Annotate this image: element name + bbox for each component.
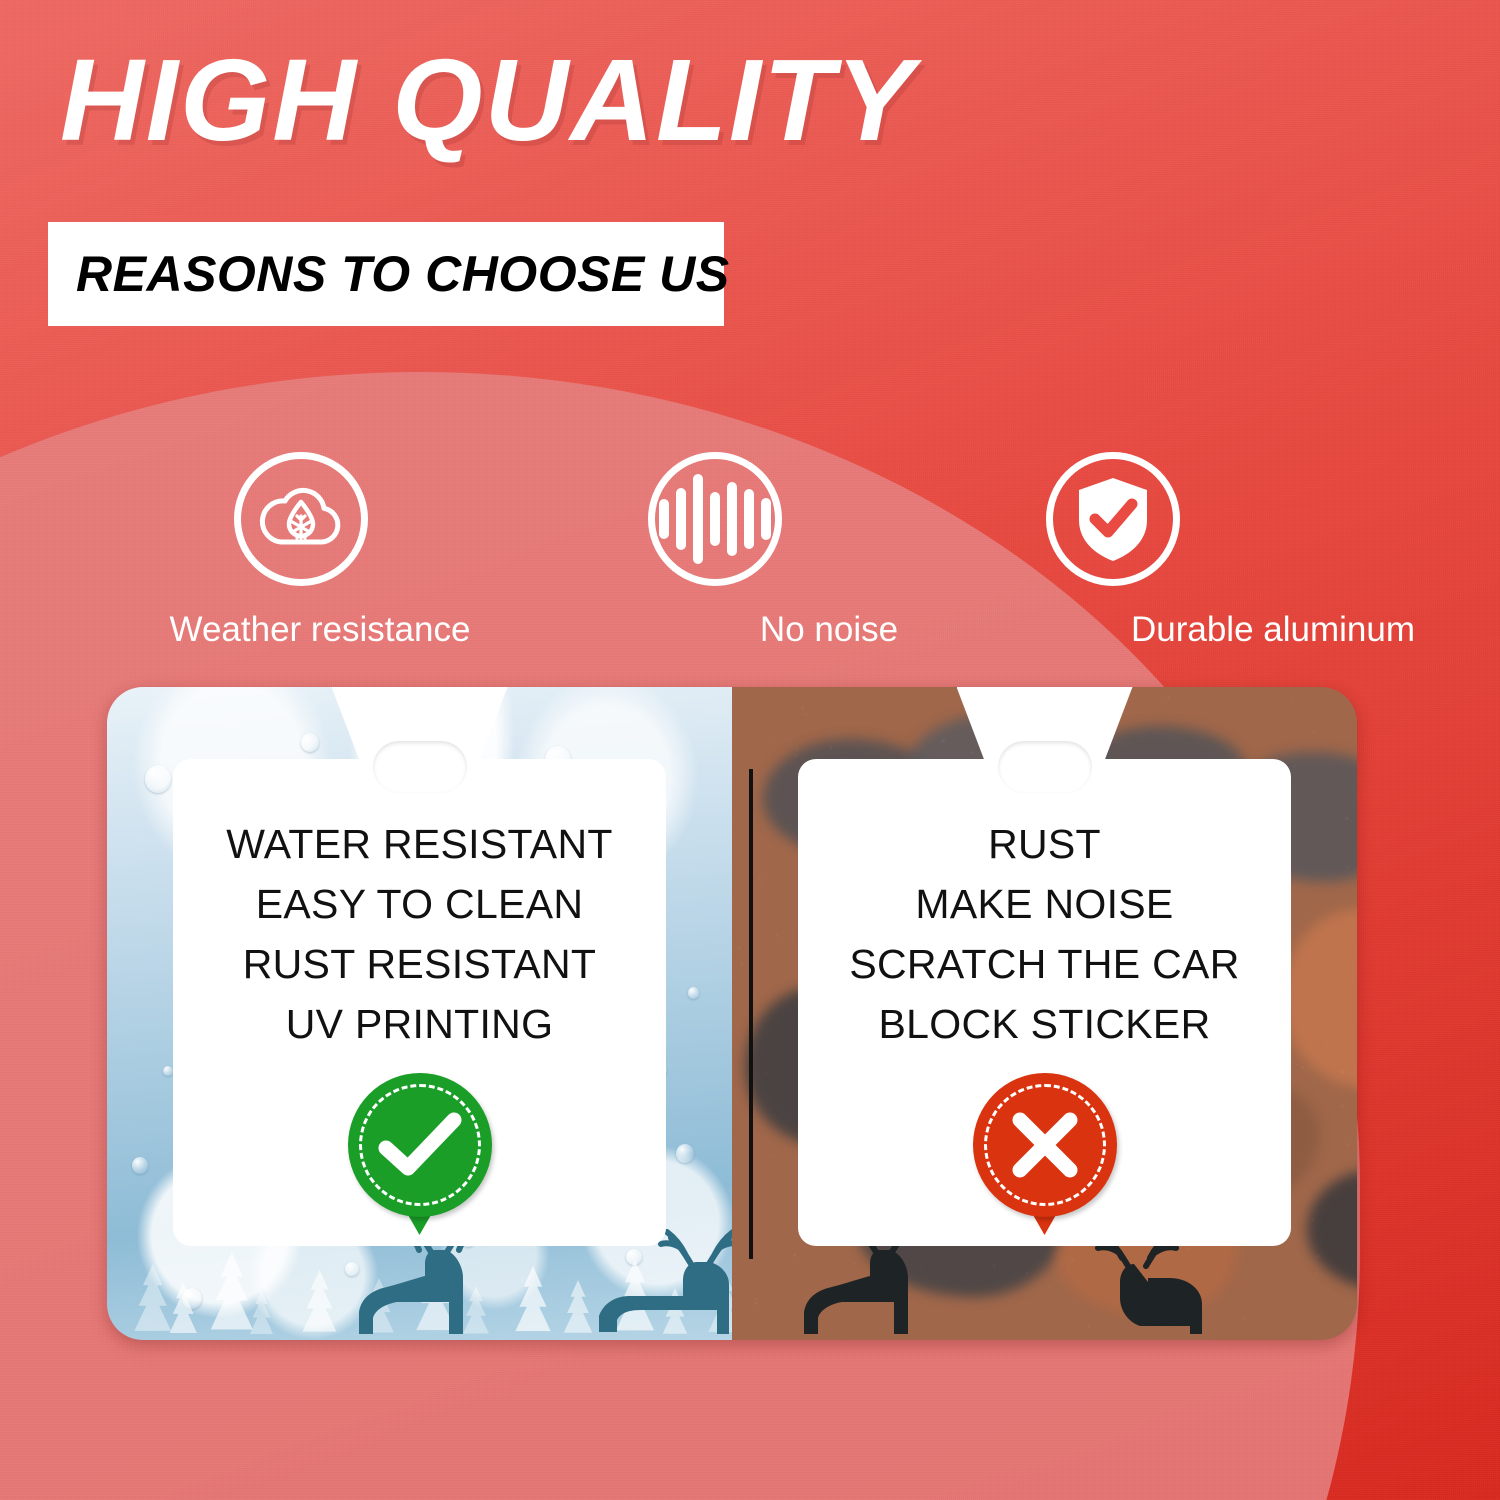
rust-speck [1114,737,1116,739]
rust-speck [1352,1266,1353,1267]
waveform-bar [693,474,703,564]
feature-label: No noise [648,610,1010,650]
waveform-bar [744,489,754,549]
rust-speck [1238,702,1241,705]
sound-waveform-icon [648,452,782,586]
rust-speck [791,739,793,741]
verdict-badge-cross [973,1073,1117,1217]
rust-speck [768,1080,770,1082]
rust-speck [756,1335,760,1339]
comparison-panel-good: WATER RESISTANT EASY TO CLEAN RUST RESIS… [107,687,732,1340]
rust-speck [754,1298,757,1301]
page-title: HIGH QUALITY [60,38,915,163]
rust-speck [1282,738,1285,741]
waveform-bar [676,488,686,550]
list-item: EASY TO CLEAN [107,875,732,935]
rust-speck [941,739,944,742]
rust-speck [879,718,881,720]
rust-speck [829,715,833,719]
water-droplet [132,1157,148,1174]
rust-speck [770,737,772,739]
list-item: SCRATCH THE CAR [732,935,1357,995]
subtitle-banner-text: REASONS TO CHOOSE US [48,245,730,303]
rust-speck [770,1155,772,1157]
shield-check-icon [1046,452,1180,586]
list-item: MAKE NOISE [732,875,1357,935]
pine-tree-silhouette [245,1290,279,1340]
feature-label: Durable aluminum [1046,610,1500,650]
rust-speck [1293,765,1295,767]
feature-icon-row: Weather resistance No noise Durable alum… [0,452,1500,650]
list-item: WATER RESISTANT [107,815,732,875]
rust-speck [862,1338,864,1340]
rust-speck [951,727,952,728]
list-item: RUST RESISTANT [107,935,732,995]
waveform-bar [659,499,669,539]
rust-speck [1315,1272,1318,1275]
rust-speck [1313,731,1315,733]
pine-tree-silhouette [295,1270,345,1340]
waveform-bar [761,498,771,540]
rust-speck [1277,690,1280,693]
rust-speck [796,748,798,750]
rust-speck [1316,1255,1319,1258]
rust-speck [1328,729,1330,731]
rust-speck [1131,715,1132,716]
water-droplet [145,765,171,792]
bad-feature-list: RUST MAKE NOISE SCRATCH THE CAR BLOCK ST… [732,815,1357,1054]
rust-speck [1288,745,1290,747]
rust-speck [1347,1143,1350,1146]
check-mark-icon [348,1073,492,1217]
rust-speck [804,713,808,717]
weather-cloud-droplet-snowflake-icon [234,452,368,586]
rust-speck [801,706,804,709]
panel-divider [749,769,753,1259]
rust-speck [777,1157,780,1160]
rust-speck [1296,1064,1299,1067]
rust-speck [753,1231,756,1234]
pine-tree-silhouette [126,1264,180,1340]
water-droplet [676,1144,694,1163]
rust-speck [1167,696,1170,699]
rust-speck [1340,1070,1344,1074]
water-droplet [301,733,319,752]
subtitle-banner: REASONS TO CHOOSE US [48,222,724,326]
rust-speck [1306,775,1309,778]
mounting-slot-right [998,741,1092,793]
rust-speck [1354,1303,1357,1307]
feature-weather-resistance: Weather resistance [0,452,580,650]
feature-label: Weather resistance [60,610,580,650]
rust-speck [754,1302,757,1305]
rust-speck [789,1138,791,1140]
cross-mark-icon [973,1073,1117,1217]
rust-speck [829,734,832,737]
rust-speck [1301,1066,1304,1069]
water-droplet [163,1066,173,1077]
waveform-bars [659,474,771,564]
rust-speck [764,1071,768,1075]
feature-no-noise: No noise [580,452,1010,650]
rust-speck [1340,1104,1344,1108]
rust-speck [764,1154,768,1158]
rust-speck [764,746,765,747]
rust-speck [1291,1287,1293,1289]
rust-speck [794,754,797,757]
mounting-slot-left [373,741,467,793]
rust-speck [1292,727,1293,728]
list-item: BLOCK STICKER [732,995,1357,1055]
waveform-bar [710,492,720,546]
list-item: UV PRINTING [107,995,732,1055]
comparison-panel-bad: RUST MAKE NOISE SCRATCH THE CAR BLOCK ST… [732,687,1357,1340]
rust-speck [1225,740,1226,741]
list-item: RUST [732,815,1357,875]
feature-durable-aluminum: Durable aluminum [1010,452,1500,650]
waveform-bar [727,482,737,556]
rust-speck [1291,1300,1294,1303]
license-plate-frame-comparison: WATER RESISTANT EASY TO CLEAN RUST RESIS… [107,687,1357,1340]
good-feature-list: WATER RESISTANT EASY TO CLEAN RUST RESIS… [107,815,732,1054]
verdict-badge-check [348,1073,492,1217]
rust-speck [1292,700,1295,703]
